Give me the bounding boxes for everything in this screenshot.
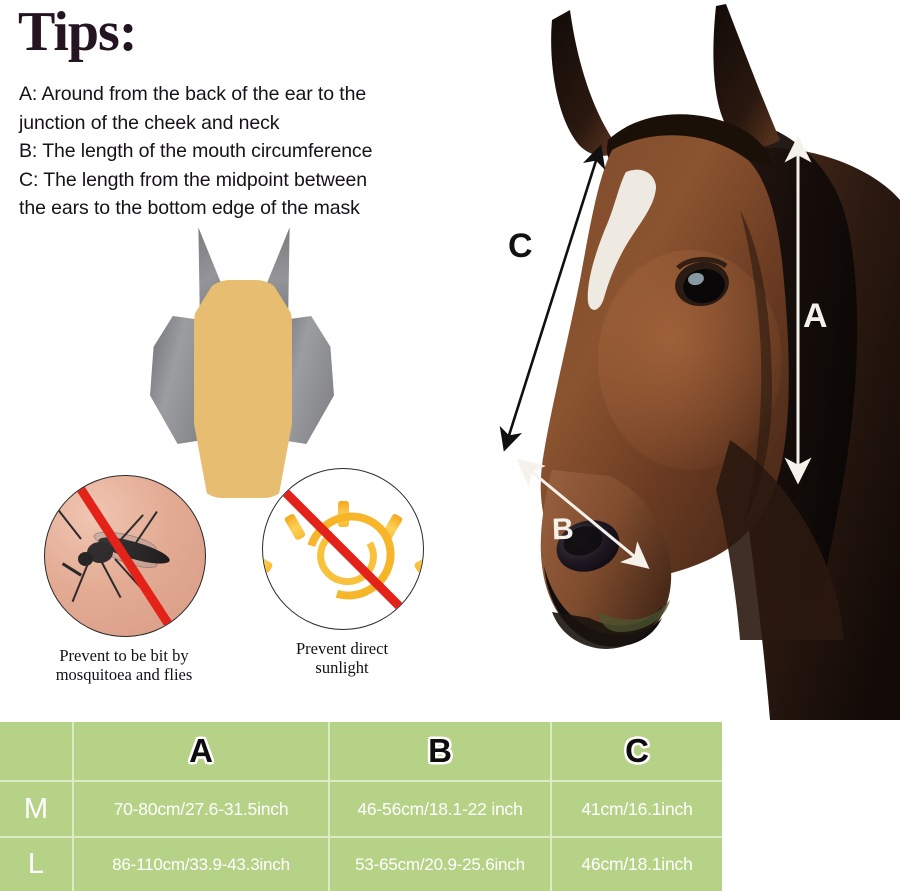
benefit-mosquito-caption: Prevent to be bit by mosquitoea and flie… [44,646,204,684]
table-header-c: C [552,722,722,782]
mask-leopard-print-body [194,280,292,498]
horse-head-photo [440,0,900,720]
tips-line-2: junction of the cheek and neck [19,109,439,138]
sun-icon [262,468,424,630]
tips-line-4: C: The length from the midpoint between [19,166,439,195]
mosquito-icon [44,475,206,637]
benefit-sun-caption-line2: sunlight [262,658,422,677]
mosquito-leg-6 [56,507,82,540]
table-header-a: A [74,722,330,782]
table-row-m-c-value: 41cm/16.1inch [581,799,692,820]
sun-ray-3 [413,551,424,574]
measurement-label-a: A [803,297,828,336]
table-header-b: B [330,722,552,782]
tips-line-1: A: Around from the back of the ear to th… [19,80,439,109]
table-row-m-a-value: 70-80cm/27.6-31.5inch [114,799,289,820]
mosquito-leg-5 [72,561,90,603]
page-title: Tips: [18,4,136,60]
fly-mask-product-image [148,224,338,502]
table-row-m-size-label: M [24,793,48,826]
table-row-m-b: 46-56cm/18.1-22 inch [330,782,552,838]
table-row-m-b-value: 46-56cm/18.1-22 inch [357,799,522,820]
mosquito-proboscis [62,562,82,576]
table-row-m-a: 70-80cm/27.6-31.5inch [74,782,330,838]
table-row-m-size: M [0,782,74,838]
table-header-b-label: B [428,732,452,770]
size-chart-table: A B C M 70-80cm/27.6-31.5inch 46-56cm/18… [0,722,722,891]
sun-ray-12 [283,513,306,541]
table-row-m-c: 41cm/16.1inch [552,782,722,838]
tips-line-5: the ears to the bottom edge of the mask [19,194,439,223]
table-header-c-label: C [625,732,649,770]
table-row-l-c: 46cm/18.1inch [552,838,722,891]
benefit-sun-caption: Prevent direct sunlight [262,639,422,677]
table-row-l-a-value: 86-110cm/33.9-43.3inch [112,855,290,875]
table-row-l-c-value: 46cm/18.1inch [581,854,692,875]
table-header-corner [0,722,74,782]
benefit-mosquito-caption-line1: Prevent to be bit by [44,646,204,665]
table-row-l-size: L [0,838,74,891]
table-row-l-b: 53-65cm/20.9-25.6inch [330,838,552,891]
benefit-mosquito: Prevent to be bit by mosquitoea and flie… [44,475,204,684]
table-row-l-a: 86-110cm/33.9-43.3inch [74,838,330,891]
measurement-label-c: C [508,227,533,266]
sun-ray-11 [262,551,273,574]
measurement-label-b: B [551,513,574,548]
benefit-sun: Prevent direct sunlight [262,468,422,677]
table-row-l-size-label: L [28,848,44,881]
table-header-a-label: A [189,732,213,770]
table-row-l-b-value: 53-65cm/20.9-25.6inch [355,855,525,875]
benefit-sun-caption-line1: Prevent direct [262,639,422,658]
tips-line-3: B: The length of the mouth circumference [19,137,439,166]
benefit-mosquito-caption-line2: mosquitoea and flies [44,665,204,684]
tips-description: A: Around from the back of the ear to th… [19,80,439,223]
